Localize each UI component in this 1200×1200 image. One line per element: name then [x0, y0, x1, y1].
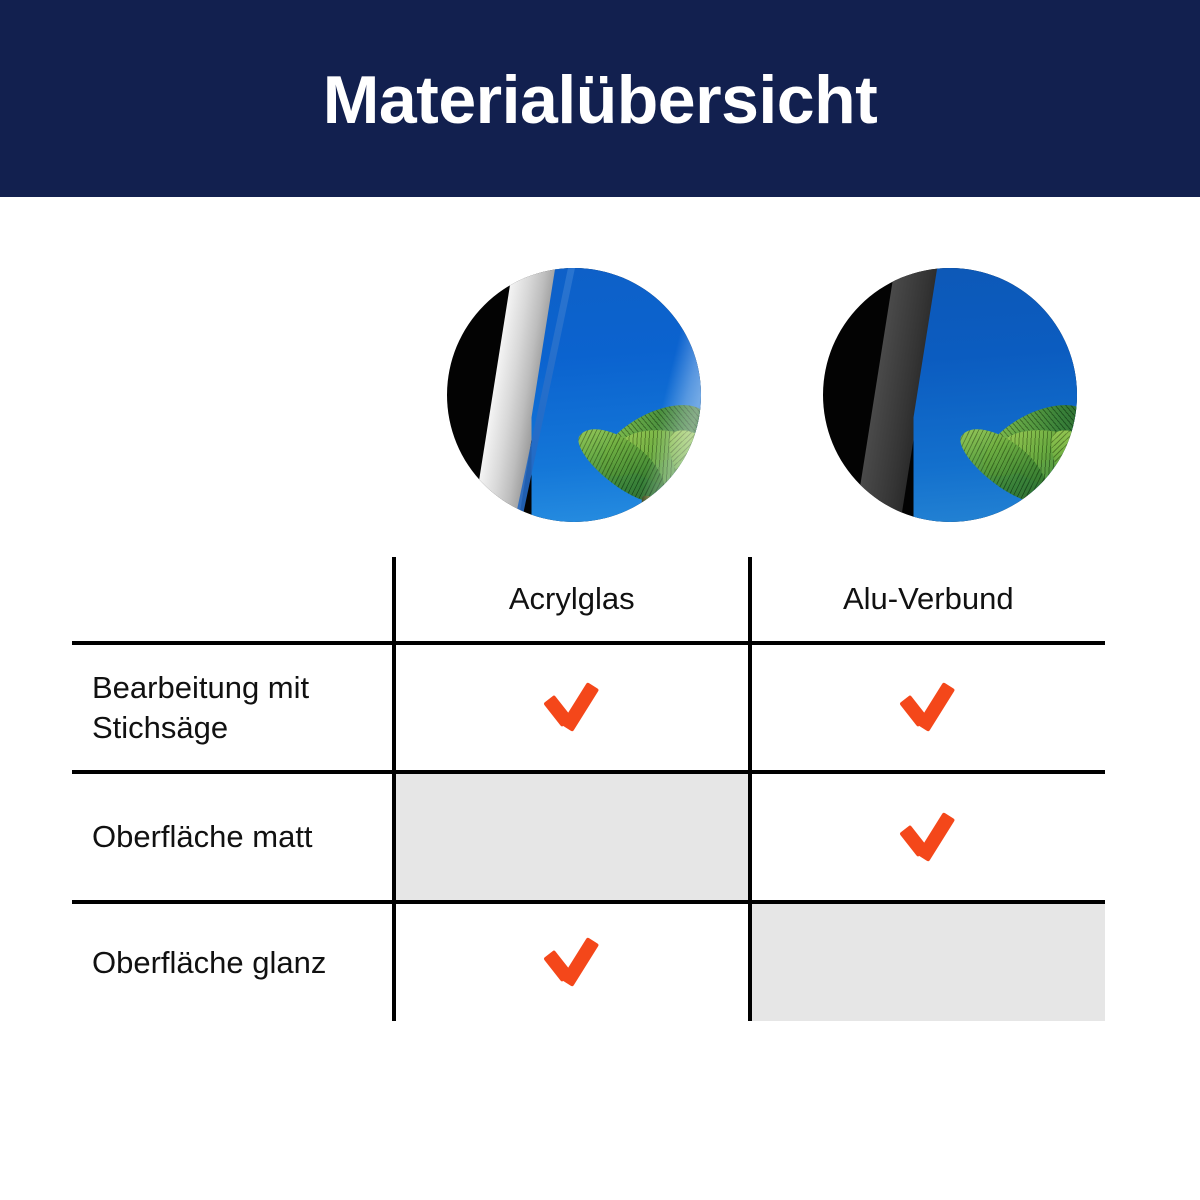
alu-verbund-product-image [823, 268, 1077, 522]
palm-sky-artwork [532, 268, 701, 522]
row-label-bearbeitung-stichsaege: Bearbeitung mit Stichsäge [72, 643, 394, 772]
table-row: Bearbeitung mit Stichsäge [72, 643, 1105, 772]
page-title: Materialübersicht [323, 66, 878, 134]
header-blank-cell [72, 557, 394, 643]
check-icon [543, 682, 601, 728]
cell-bearbeitung-alu-verbund [750, 643, 1106, 772]
acrylglas-product-image [447, 268, 701, 522]
material-comparison-table: Acrylglas Alu-Verbund Bearbeitung mit St… [72, 557, 1105, 1021]
column-header-alu-verbund: Alu-Verbund [750, 557, 1106, 643]
header-banner: Materialübersicht [0, 0, 1200, 197]
material-comparison-table-wrap: Acrylglas Alu-Verbund Bearbeitung mit St… [72, 557, 1105, 1013]
row-label-oberflaeche-glanz: Oberfläche glanz [72, 902, 394, 1021]
column-header-acrylglas: Acrylglas [394, 557, 750, 643]
alu-verbund-panel-render [823, 268, 1077, 522]
palm-sky-artwork [914, 268, 1077, 522]
row-label-oberflaeche-matt: Oberfläche matt [72, 772, 394, 902]
check-icon [543, 937, 601, 983]
cell-matt-acrylglas [394, 772, 750, 902]
row-label-line-1: Bearbeitung mit [92, 670, 309, 705]
row-label-line-2: Stichsäge [92, 710, 228, 745]
table-row: Oberfläche glanz [72, 902, 1105, 1021]
cell-matt-alu-verbund [750, 772, 1106, 902]
cell-glanz-acrylglas [394, 902, 750, 1021]
cell-bearbeitung-acrylglas [394, 643, 750, 772]
product-thumbnail-row [0, 268, 1200, 522]
table-header-row: Acrylglas Alu-Verbund [72, 557, 1105, 643]
table-row: Oberfläche matt [72, 772, 1105, 902]
check-icon [899, 682, 957, 728]
check-icon [899, 812, 957, 858]
cell-glanz-alu-verbund [750, 902, 1106, 1021]
acrylglas-panel-render [447, 268, 701, 522]
